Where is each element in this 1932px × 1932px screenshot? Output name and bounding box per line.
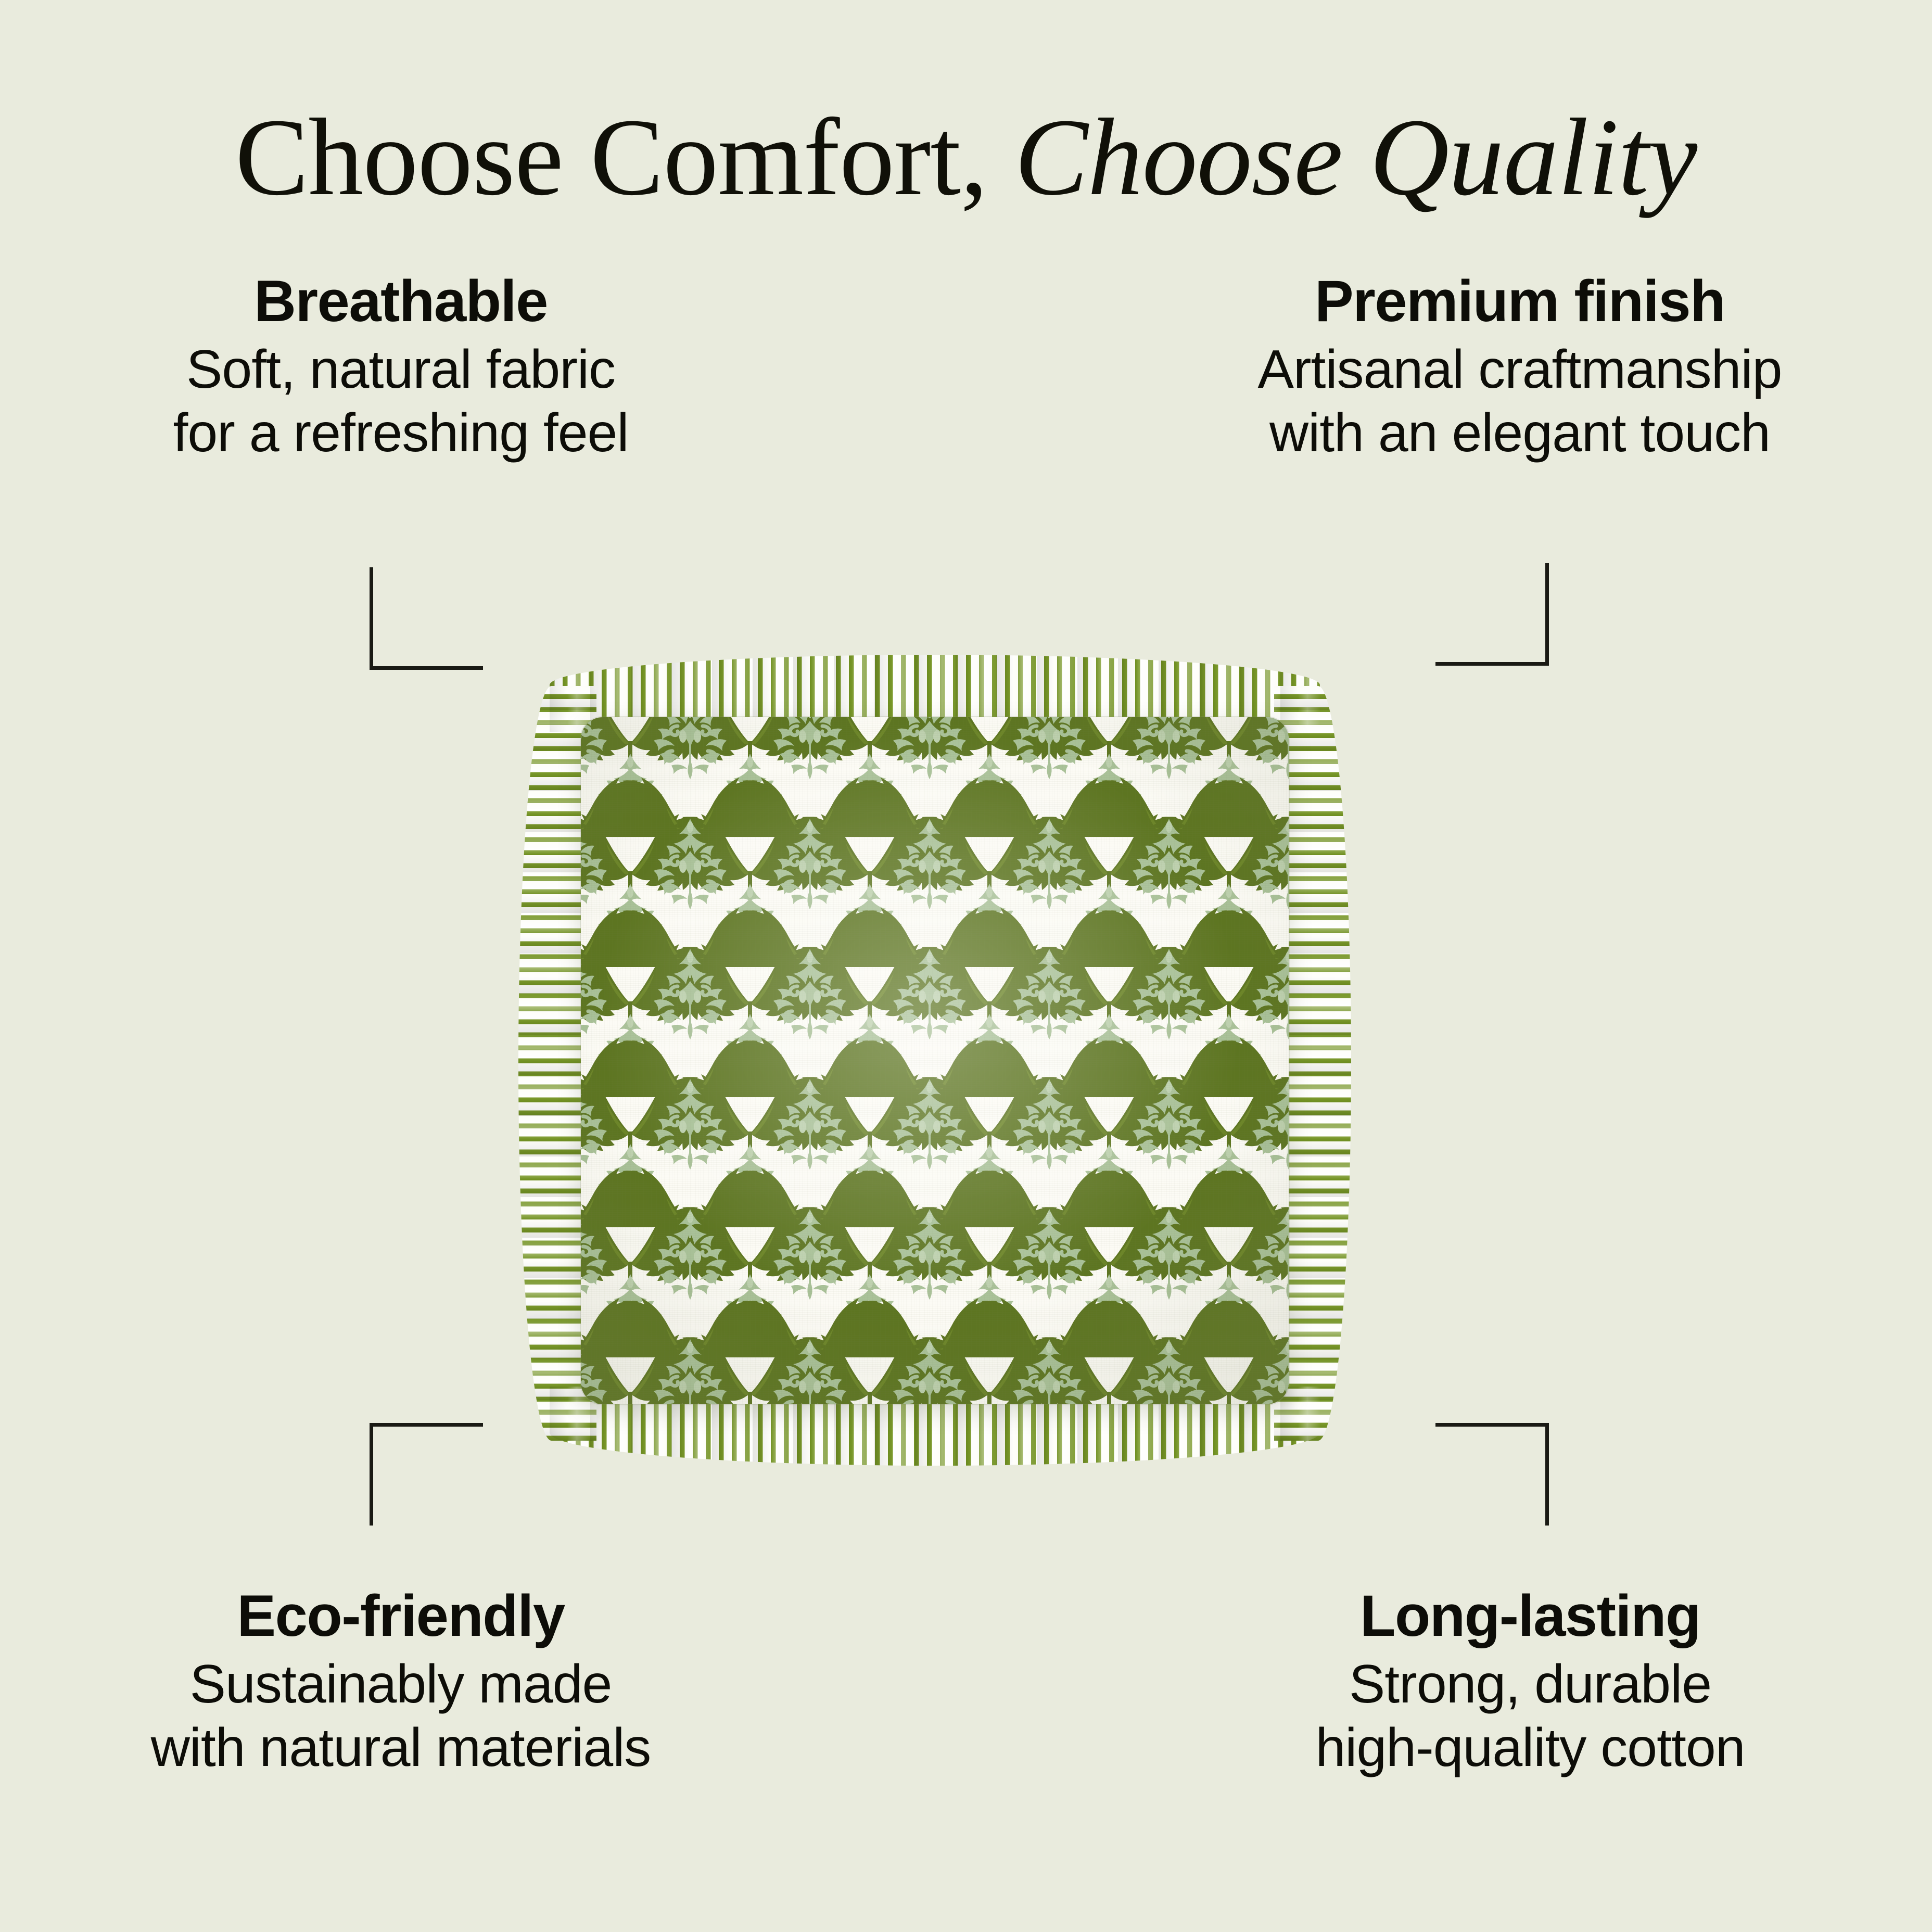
feature-body-eco-friendly: Sustainably made with natural materials bbox=[31, 1653, 770, 1780]
page-title-regular: Choose Comfort, bbox=[235, 96, 1014, 218]
page-title: Choose Comfort, Choose Quality bbox=[0, 102, 1932, 212]
feature-title-long-lasting: Long-lasting bbox=[1155, 1585, 1905, 1647]
feature-body-line: with an elegant touch bbox=[1135, 401, 1905, 465]
feature-body-line: with natural materials bbox=[31, 1716, 770, 1780]
feature-body-line: Artisanal craftmanship bbox=[1135, 338, 1905, 402]
connector-bracket-bottom-left bbox=[370, 1423, 484, 1527]
bracket-vertical-segment bbox=[370, 567, 373, 670]
feature-title-breathable: Breathable bbox=[31, 271, 770, 333]
feature-body-line: Sustainably made bbox=[31, 1653, 770, 1717]
feature-body-line: Soft, natural fabric bbox=[31, 338, 770, 402]
bracket-vertical-segment bbox=[1545, 1423, 1549, 1526]
feature-body-line: high-quality cotton bbox=[1155, 1716, 1905, 1780]
bracket-vertical-segment bbox=[1545, 563, 1549, 666]
feature-body-long-lasting: Strong, durable high-quality cotton bbox=[1155, 1653, 1905, 1780]
infographic-canvas: Choose Comfort, Choose Quality Breathabl… bbox=[0, 0, 1932, 1932]
connector-bracket-bottom-right bbox=[1434, 1423, 1549, 1527]
feature-body-premium-finish: Artisanal craftmanship with an elegant t… bbox=[1135, 338, 1905, 465]
feature-body-line: for a refreshing feel bbox=[31, 401, 770, 465]
connector-bracket-top-right bbox=[1434, 563, 1549, 667]
feature-block-long-lasting: Long-lasting Strong, durable high-qualit… bbox=[1155, 1585, 1905, 1780]
feature-title-premium-finish: Premium finish bbox=[1135, 271, 1905, 333]
bracket-horizontal-segment bbox=[1435, 1423, 1549, 1427]
block-print-pattern bbox=[581, 717, 1289, 1404]
feature-title-eco-friendly: Eco-friendly bbox=[31, 1585, 770, 1647]
product-image-cushion bbox=[518, 655, 1351, 1467]
feature-block-premium-finish: Premium finish Artisanal craftmanship wi… bbox=[1135, 271, 1905, 465]
cushion bbox=[518, 655, 1351, 1467]
bracket-horizontal-segment bbox=[1435, 662, 1549, 666]
bracket-horizontal-segment bbox=[370, 666, 483, 670]
bracket-horizontal-segment bbox=[370, 1423, 483, 1427]
cushion-front-panel bbox=[581, 717, 1289, 1404]
feature-body-line: Strong, durable bbox=[1155, 1653, 1905, 1717]
bracket-vertical-segment bbox=[370, 1423, 373, 1526]
connector-bracket-top-left bbox=[370, 567, 484, 671]
feature-block-eco-friendly: Eco-friendly Sustainably made with natur… bbox=[31, 1585, 770, 1780]
page-title-italic: Choose Quality bbox=[1014, 96, 1697, 218]
feature-block-breathable: Breathable Soft, natural fabric for a re… bbox=[31, 271, 770, 465]
feature-body-breathable: Soft, natural fabric for a refreshing fe… bbox=[31, 338, 770, 465]
